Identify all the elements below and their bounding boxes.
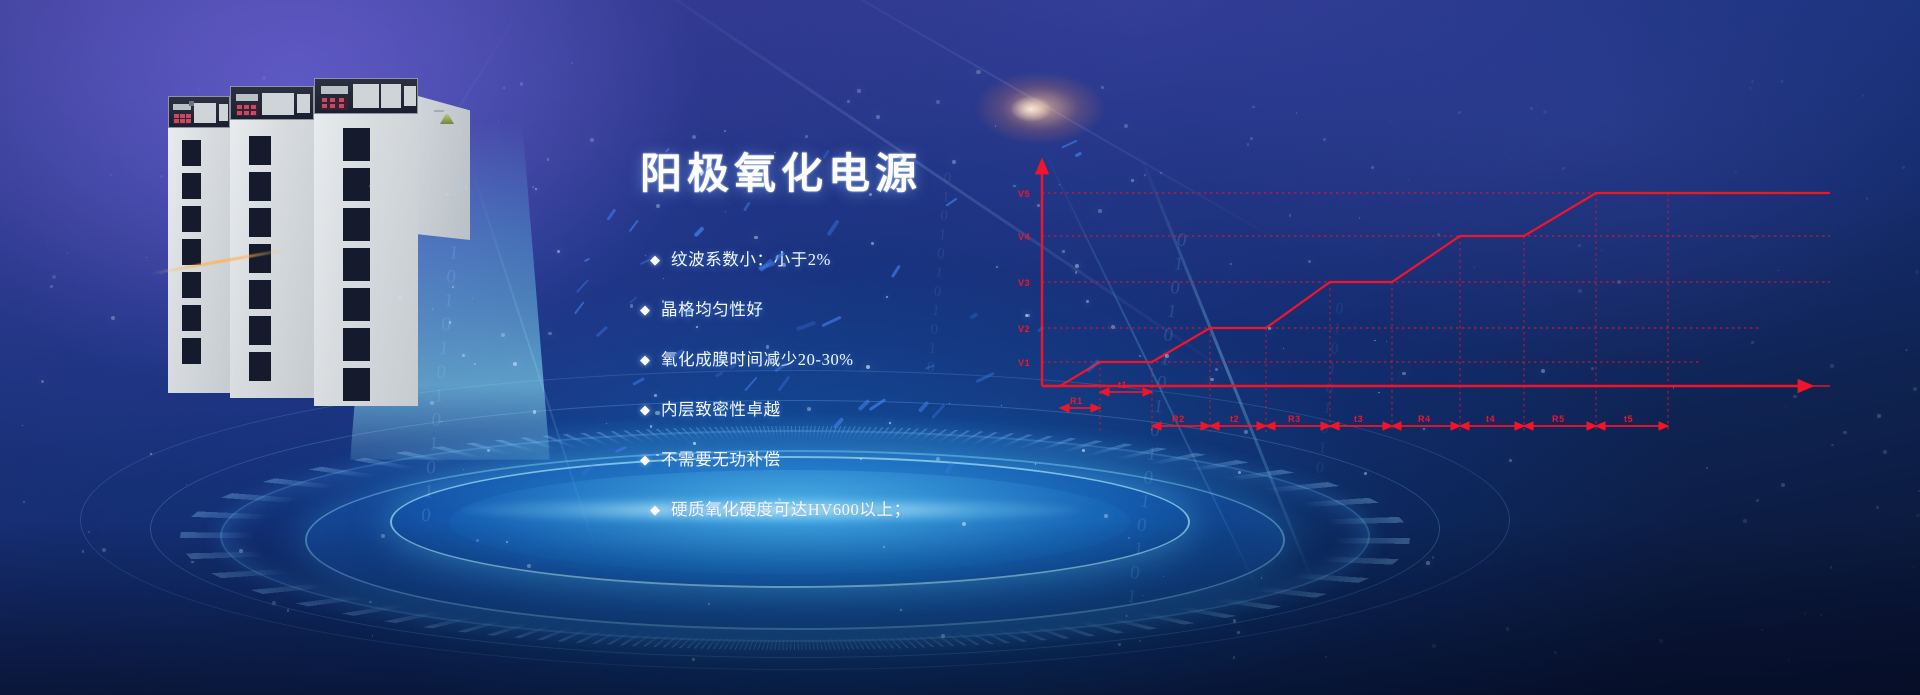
particle (1530, 107, 1533, 110)
particle (1785, 406, 1786, 407)
particle (520, 82, 524, 86)
feature-text: 纹波系数小：小于2% (671, 249, 831, 271)
cabinet-vent-slot (343, 168, 370, 201)
particle (1601, 250, 1603, 252)
cabinet-vent-slot (182, 206, 201, 232)
panel-breaker-icon (297, 94, 310, 113)
cabinet-vent-slot (182, 305, 201, 331)
particle (1371, 166, 1374, 169)
particle (1408, 179, 1409, 180)
particle (88, 531, 90, 533)
particle (1915, 270, 1919, 274)
feature-text: 不需要无功补偿 (661, 449, 781, 471)
panel-breaker-icon (219, 104, 228, 121)
particle (533, 410, 536, 413)
particle (369, 601, 372, 604)
cabinet-vent-slot (343, 368, 370, 401)
cabinet-unit-middle (230, 110, 314, 398)
particle (1706, 467, 1708, 469)
particle (160, 175, 163, 178)
particle (441, 421, 442, 422)
particle (941, 634, 945, 638)
fleck (629, 220, 639, 232)
list-item: ◆ 硬质氧化硬度可达HV600以上； (640, 499, 1280, 521)
particle (186, 484, 188, 486)
chart-label-t4: t4 (1486, 414, 1495, 424)
particle (1761, 629, 1763, 631)
particle (381, 534, 385, 538)
particle (995, 125, 997, 127)
particle (1777, 270, 1779, 272)
particle (1562, 167, 1565, 170)
cabinet-vent-slot (189, 101, 194, 106)
panel-keypad-icon (173, 113, 191, 124)
particle (1913, 566, 1915, 568)
particle (476, 539, 479, 542)
particle (1889, 306, 1890, 307)
particle (1578, 244, 1581, 247)
particle (1788, 659, 1791, 662)
particle (1432, 644, 1436, 648)
particle (1751, 341, 1754, 344)
particle (936, 100, 940, 104)
particle (1325, 656, 1328, 659)
particle (1831, 444, 1834, 447)
particle (590, 138, 594, 142)
chart-label-t5: t5 (1624, 414, 1633, 424)
particle (606, 423, 607, 424)
particle (1289, 214, 1292, 217)
particle (876, 115, 880, 119)
particle (630, 304, 634, 308)
particle (1830, 364, 1834, 368)
lens-flare-core-icon (1010, 96, 1052, 122)
particle (1142, 595, 1143, 596)
particle (50, 285, 54, 289)
diamond-bullet-icon: ◆ (650, 249, 660, 271)
particle (47, 242, 48, 243)
particle (1233, 619, 1237, 623)
fleck (576, 278, 589, 292)
cabinet-control-panel-middle (230, 86, 314, 120)
particle (1591, 367, 1594, 370)
particle (1905, 349, 1908, 352)
particle (1506, 627, 1510, 631)
fleck (606, 209, 616, 222)
binary-decoration: 010101010 (1309, 300, 1349, 481)
particle (847, 100, 850, 103)
cabinet-vent-slot (343, 328, 370, 361)
panel-breaker-icon (404, 86, 416, 106)
particle (976, 70, 980, 74)
cabinet-brand-text-icon (434, 110, 444, 112)
feature-list: ◆ 纹波系数小：小于2% ◆ 晶格均匀性好 ◆ 氧化成膜时间减少20-30% ◆… (640, 249, 1280, 521)
cabinet-vent-slot (182, 338, 201, 364)
particle (1916, 514, 1919, 517)
particle (239, 549, 243, 553)
fleck (584, 258, 590, 262)
particle (1763, 125, 1764, 126)
chart-label-r5: R5 (1552, 414, 1565, 424)
fleck (629, 297, 637, 304)
diamond-bullet-icon: ◆ (640, 399, 650, 421)
feature-text: 氧化成膜时间减少20-30% (661, 349, 854, 371)
particle (1374, 340, 1376, 342)
panel-screen-icon (353, 84, 379, 108)
particle (110, 174, 112, 176)
banner-content: 阳极氧化电源 ◆ 纹波系数小：小于2% ◆ 晶格均匀性好 ◆ 氧化成膜时间减少2… (640, 140, 1280, 549)
particle (1877, 414, 1881, 418)
cabinet-vent-slot (249, 316, 271, 345)
particle (1509, 459, 1512, 462)
panel-screen-icon (194, 103, 216, 123)
particle (1866, 197, 1868, 199)
particle (82, 550, 84, 552)
particle (41, 380, 44, 383)
particle (1261, 577, 1263, 579)
particle (501, 333, 505, 337)
particle (1386, 341, 1387, 342)
cabinet-control-panel-right (314, 78, 418, 114)
panel-label-icon (381, 84, 401, 108)
particle (1554, 651, 1557, 654)
cabinet-vent-slot (249, 280, 271, 309)
particle (532, 186, 534, 188)
particle (1862, 94, 1865, 97)
particle (1843, 431, 1847, 435)
particle (1543, 110, 1547, 114)
particle (1458, 111, 1461, 114)
particle (272, 601, 276, 605)
particle (150, 453, 152, 455)
particle (1437, 233, 1440, 236)
particle (1578, 289, 1582, 293)
particle (527, 564, 531, 568)
particle (22, 425, 23, 426)
banner-stage: 010101010101010 0101010101010101 0101010… (0, 0, 1920, 695)
particle (146, 257, 147, 258)
particle (1756, 499, 1759, 502)
cabinet-vent-slot (249, 136, 271, 165)
particle (23, 501, 25, 503)
particle (1505, 152, 1506, 153)
page-title: 阳极氧化电源 (640, 140, 1280, 201)
panel-keypad-icon (321, 97, 348, 110)
particle (1834, 229, 1836, 231)
particle (503, 87, 505, 89)
cabinet-vent-slot (182, 173, 201, 199)
particle (1781, 80, 1784, 83)
diamond-bullet-icon: ◆ (650, 499, 660, 521)
particle (1118, 643, 1121, 646)
particle (1233, 656, 1236, 659)
panel-screen-icon (262, 93, 294, 115)
fleck (615, 445, 627, 453)
particle (1743, 519, 1747, 523)
particle (287, 609, 290, 612)
particle (692, 135, 696, 139)
feature-text: 硬质氧化硬度可达HV600以上； (671, 499, 911, 521)
cabinet-vent-slot (182, 140, 201, 166)
particle (1734, 171, 1737, 174)
particle (111, 316, 115, 320)
chart-label-t3: t3 (1354, 414, 1363, 424)
cabinet-vent-slot (249, 172, 271, 201)
particle (1752, 235, 1756, 239)
list-item: ◆ 晶格均匀性好 (640, 299, 1280, 321)
particle (708, 603, 710, 605)
particle (1793, 395, 1797, 399)
light-streak (1180, 0, 1567, 12)
particle (1296, 112, 1298, 114)
particle (548, 332, 551, 335)
particle (805, 135, 808, 138)
ambient-glow-right (1180, 0, 1920, 380)
particle (1541, 369, 1545, 373)
particle (1474, 267, 1475, 268)
particle (1751, 80, 1754, 83)
particle (557, 250, 560, 253)
particle (1402, 372, 1406, 376)
particle (1902, 166, 1905, 169)
particle (1364, 472, 1367, 475)
particle (1124, 124, 1128, 128)
particle (67, 252, 69, 254)
lens-flare-icon (975, 72, 1105, 144)
particle (1323, 138, 1326, 141)
particle (1101, 86, 1104, 89)
particle (1378, 392, 1379, 393)
particle (498, 121, 499, 122)
particle (571, 62, 574, 65)
panel-lcd-icon (321, 86, 348, 94)
cabinet-control-panel-left (168, 96, 230, 128)
particle (1308, 260, 1311, 263)
particle (1359, 217, 1360, 218)
feature-text: 晶格均匀性好 (661, 299, 764, 321)
particle (547, 158, 549, 160)
cabinet-vent-slot (343, 208, 370, 241)
particle (1237, 631, 1240, 634)
particle (148, 157, 149, 158)
diamond-bullet-icon: ◆ (640, 349, 650, 371)
particle (1781, 483, 1785, 487)
particle (900, 609, 902, 611)
feature-text: 内层致密性卓越 (661, 399, 781, 421)
particle (1659, 639, 1663, 643)
particle (1432, 556, 1435, 559)
particle (1252, 106, 1255, 109)
particle (1804, 612, 1806, 614)
panel-keypad-icon (236, 104, 258, 116)
particle (506, 541, 508, 543)
fleck (596, 326, 609, 338)
particle (1423, 428, 1425, 430)
particle (692, 658, 695, 661)
diamond-bullet-icon: ◆ (640, 299, 650, 321)
particle (513, 362, 517, 366)
particle (1283, 348, 1285, 350)
particle (372, 635, 374, 637)
list-item: ◆ 内层致密性卓越 (640, 399, 1280, 421)
list-item: ◆ 氧化成膜时间减少20-30% (640, 349, 1280, 371)
particle (1617, 280, 1621, 284)
particle (857, 89, 860, 92)
particle (1883, 450, 1887, 454)
cabinet-vent-slot (343, 248, 370, 281)
particle (1913, 387, 1917, 391)
cabinet-vent-slot (343, 288, 370, 321)
particle (1139, 640, 1141, 642)
particle (1390, 121, 1391, 122)
cabinet-vent-slot (249, 244, 271, 273)
cabinet-vent-slot (249, 352, 271, 381)
fleck (574, 301, 585, 314)
cabinet-vent-slot (182, 239, 201, 265)
particle (724, 130, 726, 132)
particle (191, 561, 193, 563)
cabinet-vent-slot (343, 128, 370, 161)
particle (1749, 87, 1752, 90)
particle (1673, 387, 1675, 389)
particle (463, 469, 465, 471)
panel-lcd-icon (236, 94, 258, 101)
particle (1426, 561, 1429, 564)
particle (1820, 614, 1822, 616)
list-item: ◆ 不需要无功补偿 (640, 449, 1280, 471)
particle (1126, 615, 1127, 616)
cabinet-vent-slot (182, 272, 201, 298)
list-item: ◆ 纹波系数小：小于2% (640, 249, 1280, 271)
diamond-bullet-icon: ◆ (640, 449, 650, 471)
chart-label-r4: R4 (1418, 414, 1431, 424)
particle (1163, 576, 1165, 578)
particle (535, 188, 537, 190)
particle (487, 449, 490, 452)
fleck (580, 462, 595, 476)
cabinet-vent-slot (249, 208, 271, 237)
particle (102, 548, 106, 552)
particle (52, 275, 56, 279)
particle (1876, 506, 1879, 509)
particle (1830, 566, 1833, 569)
chart-label-r3: R3 (1288, 414, 1301, 424)
equipment-cabinets (168, 78, 488, 408)
